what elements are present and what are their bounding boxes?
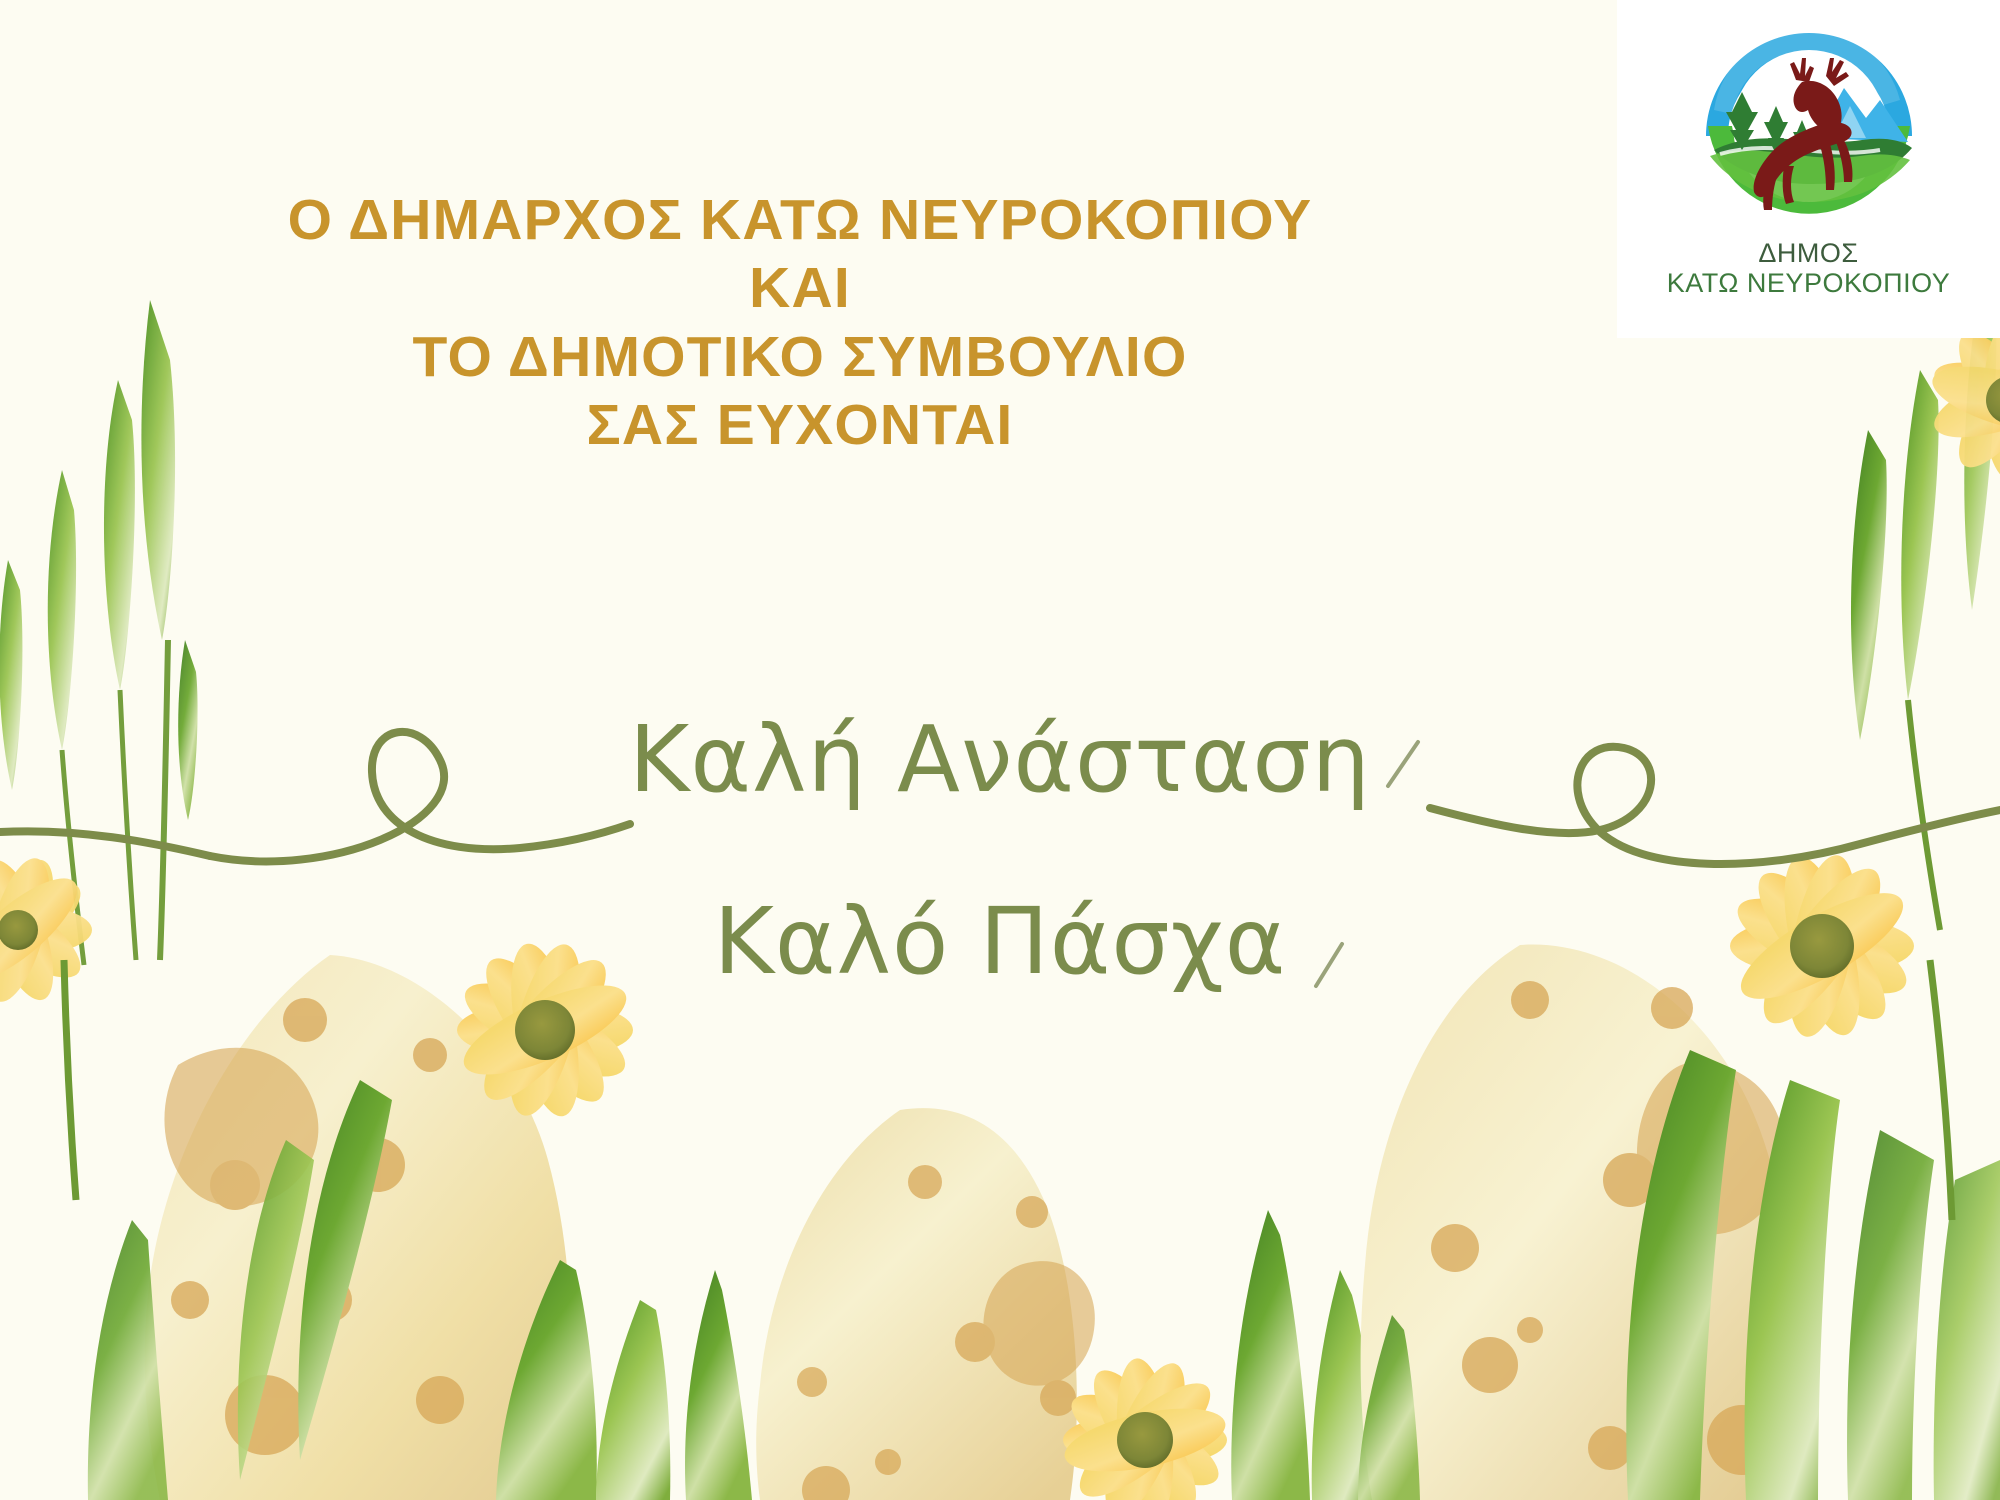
- headline-line-3: ΤΟ ΔΗΜΟΤΙΚΟ ΣΥΜΒΟΥΛΙΟ: [0, 323, 1600, 391]
- easter-greeting-card: Ο ΔΗΜΑΡΧΟΣ ΚΑΤΩ ΝΕΥΡΟΚΟΠΙΟΥ ΚΑΙ ΤΟ ΔΗΜΟΤ…: [0, 0, 2000, 1500]
- headline-line-1: Ο ΔΗΜΑΡΧΟΣ ΚΑΤΩ ΝΕΥΡΟΚΟΠΙΟΥ: [0, 186, 1600, 254]
- municipality-logo: ΔΗΜΟΣ ΚΑΤΩ ΝΕΥΡΟΚΟΠΙΟΥ: [1617, 0, 2000, 338]
- wish-line-pascha: Καλό Πάσχα: [0, 888, 2000, 995]
- deer-mountain-emblem-icon: [1684, 14, 1934, 242]
- logo-wordmark: ΔΗΜΟΣ ΚΑΤΩ ΝΕΥΡΟΚΟΠΙΟΥ: [1667, 238, 1951, 298]
- headline-block: Ο ΔΗΜΑΡΧΟΣ ΚΑΤΩ ΝΕΥΡΟΚΟΠΙΟΥ ΚΑΙ ΤΟ ΔΗΜΟΤ…: [0, 186, 1600, 460]
- wish-line-anastasi: Καλή Ανάσταση: [0, 706, 2000, 813]
- logo-line-2: ΚΑΤΩ ΝΕΥΡΟΚΟΠΙΟΥ: [1667, 268, 1951, 298]
- headline-line-4: ΣΑΣ ΕΥΧΟΝΤΑΙ: [0, 391, 1600, 459]
- logo-line-1: ΔΗΜΟΣ: [1667, 238, 1951, 268]
- headline-line-2: ΚΑΙ: [0, 254, 1600, 322]
